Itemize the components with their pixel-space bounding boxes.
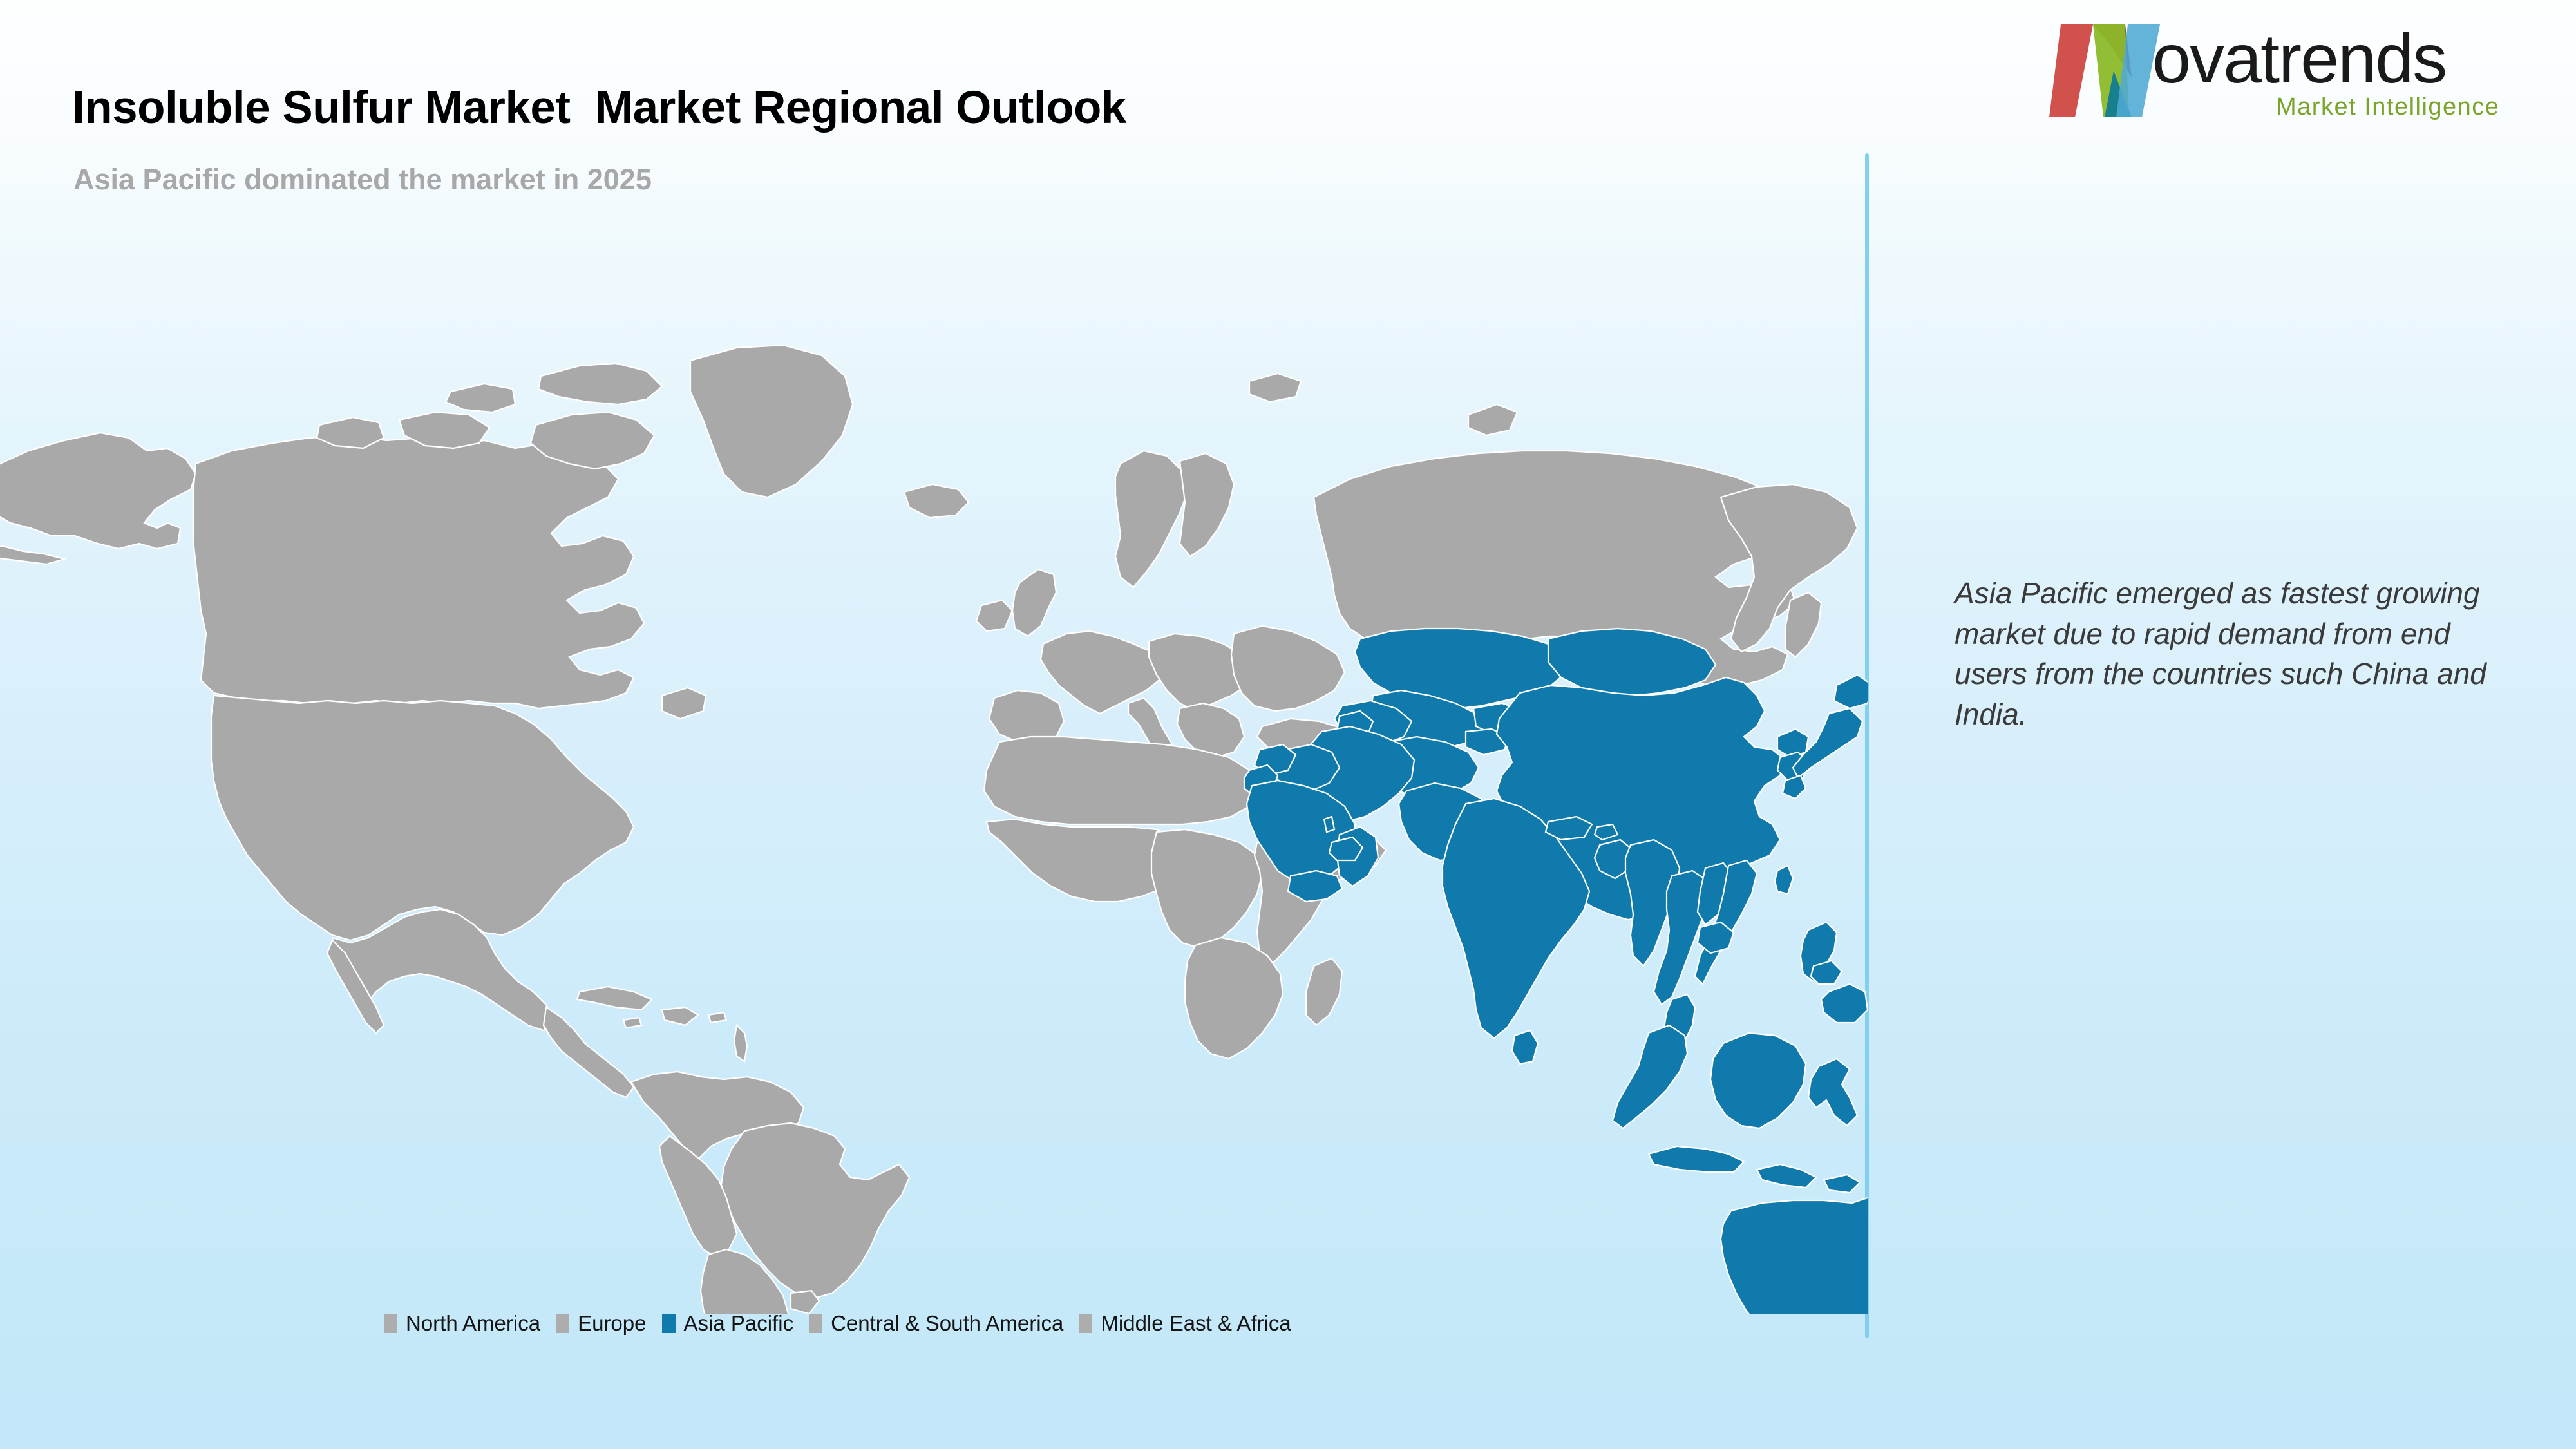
page-title: Insoluble Sulfur Market Market Regional … (72, 85, 1126, 131)
country-united-states (211, 696, 634, 940)
region-central-africa (1151, 829, 1262, 948)
island-greenland (690, 345, 853, 497)
island-aleutians (0, 546, 64, 564)
island-mindanao (1821, 984, 1868, 1023)
legend-item-middle-east-africa[interactable]: Middle East & Africa (1079, 1312, 1291, 1334)
island-arctic-minor-1 (446, 384, 515, 412)
island-jamaica (623, 1018, 641, 1028)
country-uruguay (791, 1291, 819, 1314)
country-qatar (1324, 817, 1334, 832)
country-sri-lanka (1512, 1030, 1538, 1064)
country-ireland (976, 600, 1012, 631)
island-svalbard (1249, 374, 1301, 402)
island-java (1649, 1146, 1744, 1172)
legend-item-asia-pacific[interactable]: Asia Pacific (662, 1312, 794, 1334)
island-lesser-sunda (1757, 1164, 1816, 1188)
legend-swatch-icon (809, 1314, 822, 1333)
region-southern-africa (1185, 938, 1283, 1059)
island-lesser-antilles (734, 1025, 747, 1061)
legend-label: North America (406, 1312, 540, 1334)
legend-swatch-icon (384, 1314, 397, 1333)
map-legend: North America Europe Asia Pacific Centra… (384, 1312, 1307, 1334)
island-newfoundland (662, 688, 706, 719)
legend-label: Central & South America (831, 1312, 1063, 1334)
novatrends-n-logo-icon (2049, 24, 2160, 117)
country-japan-hokkaido (1834, 675, 1868, 708)
logo-tagline: Market Intelligence (2276, 93, 2499, 120)
legend-label: Asia Pacific (684, 1312, 794, 1334)
country-scandinavia (1115, 451, 1188, 587)
country-united-kingdom (1012, 569, 1056, 636)
legend-label: Europe (578, 1312, 646, 1334)
island-hispaniola (662, 1007, 698, 1025)
logo-wordmark: ovatrends (2152, 19, 2446, 97)
legend-swatch-icon (556, 1314, 569, 1333)
slide-canvas: Insoluble Sulfur Market Market Regional … (0, 0, 2576, 1449)
legend-item-europe[interactable]: Europe (556, 1312, 646, 1334)
country-finland (1180, 453, 1234, 556)
novatrends-logo: ovatrends Market Intelligence (2049, 6, 2558, 129)
country-alaska (0, 433, 196, 549)
island-sumatra (1613, 1025, 1687, 1128)
region-eastern-europe (1231, 626, 1345, 711)
legend-label: Middle East & Africa (1101, 1312, 1291, 1334)
legend-item-central-south-america[interactable]: Central & South America (809, 1312, 1063, 1334)
island-timor (1824, 1175, 1860, 1193)
region-central-america (544, 1007, 634, 1097)
legend-item-north-america[interactable]: North America (384, 1312, 540, 1334)
island-cuba (577, 987, 652, 1010)
island-ellesmere (538, 363, 662, 404)
legend-swatch-icon (1079, 1314, 1092, 1333)
island-taiwan (1775, 866, 1793, 894)
island-sulawesi (1808, 1059, 1857, 1126)
world-map: .g{fill:#a9a9a9;stroke:#ffffff;stroke-wi… (0, 270, 1868, 1314)
island-novaya-zemlya (1468, 404, 1517, 435)
country-canada (193, 435, 644, 708)
region-insight-note: Asia Pacific emerged as fastest growing … (1955, 573, 2521, 734)
peninsula-kamchatka (1785, 592, 1821, 657)
island-puerto-rico (708, 1012, 726, 1023)
island-iceland (904, 484, 969, 518)
legend-swatch-icon (662, 1314, 676, 1333)
page-subtitle: Asia Pacific dominated the market in 202… (73, 165, 652, 194)
island-borneo (1710, 1033, 1806, 1128)
island-madagascar (1306, 958, 1342, 1025)
